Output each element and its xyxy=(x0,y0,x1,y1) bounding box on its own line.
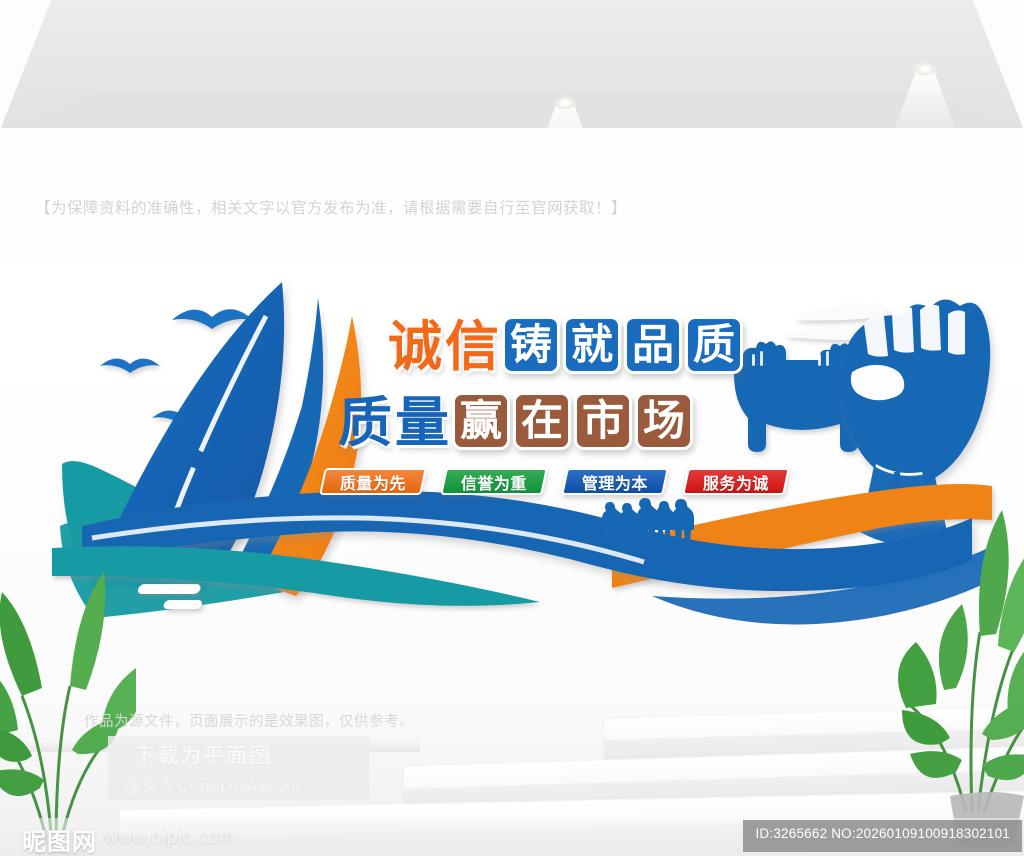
headline-char-pin: 品 xyxy=(624,316,682,374)
badge-service: 服务为诚 xyxy=(682,468,790,495)
badge-reputation-label: 信誉为重 xyxy=(461,470,527,494)
wall-culture-artwork: 诚 信 铸 就 品 质 质 量 赢 在 市 场 质量为先 信誉为重 管理为本 xyxy=(52,276,992,628)
badge-reputation: 信誉为重 xyxy=(440,468,548,495)
nipic-url: www.nipic.com xyxy=(104,827,235,849)
room-scene: 【为保障资料的准确性，相关文字以官方发布为准，请根据需要自行至官网获取！】 xyxy=(0,0,1024,856)
headline-char-xin: 信 xyxy=(445,320,499,374)
headline-char-zhu: 铸 xyxy=(502,316,560,374)
notice-text: 【为保障资料的准确性，相关文字以官方发布为准，请根据需要自行至官网获取！】 xyxy=(35,196,855,218)
plant-right xyxy=(896,476,1024,856)
ceiling-spotlight-2 xyxy=(556,99,574,109)
headline-char-zai: 在 xyxy=(513,392,571,450)
headline-char-ying: 赢 xyxy=(452,392,510,450)
headline-char-jiu: 就 xyxy=(563,316,621,374)
source-file-label: 源文件CorelDRAW X6 xyxy=(124,772,301,797)
headline-line-2: 质 量 赢 在 市 场 xyxy=(338,392,693,450)
headline-char-chang: 场 xyxy=(635,392,693,450)
image-id-badge: ID:3265662 NO:20260109100918302101 xyxy=(743,820,1022,852)
ceiling-spotlight-3 xyxy=(916,65,934,75)
footer-note: 作品为源文件，页面展示的是效果图，仅供参考。 xyxy=(84,710,414,731)
people-silhouettes xyxy=(597,494,689,544)
nipic-logo: 昵图网 xyxy=(22,822,97,856)
badge-management-label: 管理为本 xyxy=(582,470,648,494)
badge-quality-first-label: 质量为先 xyxy=(340,470,406,494)
badge-service-label: 服务为诚 xyxy=(703,470,769,494)
headline-char-liang: 量 xyxy=(395,396,449,450)
badge-management: 管理为本 xyxy=(561,468,669,495)
badge-quality-first: 质量为先 xyxy=(319,468,427,495)
slogan-badge-row: 质量为先 信誉为重 管理为本 服务为诚 xyxy=(322,468,787,495)
headline-char-zhi2: 质 xyxy=(338,396,392,450)
headline-char-cheng: 诚 xyxy=(388,320,442,374)
plant-left xyxy=(0,498,136,856)
headline-char-shi: 市 xyxy=(574,392,632,450)
headline-char-zhi: 质 xyxy=(685,316,743,374)
download-label: 下载为平面图 xyxy=(134,740,272,770)
headline-line-1: 诚 信 铸 就 品 质 xyxy=(388,316,743,374)
